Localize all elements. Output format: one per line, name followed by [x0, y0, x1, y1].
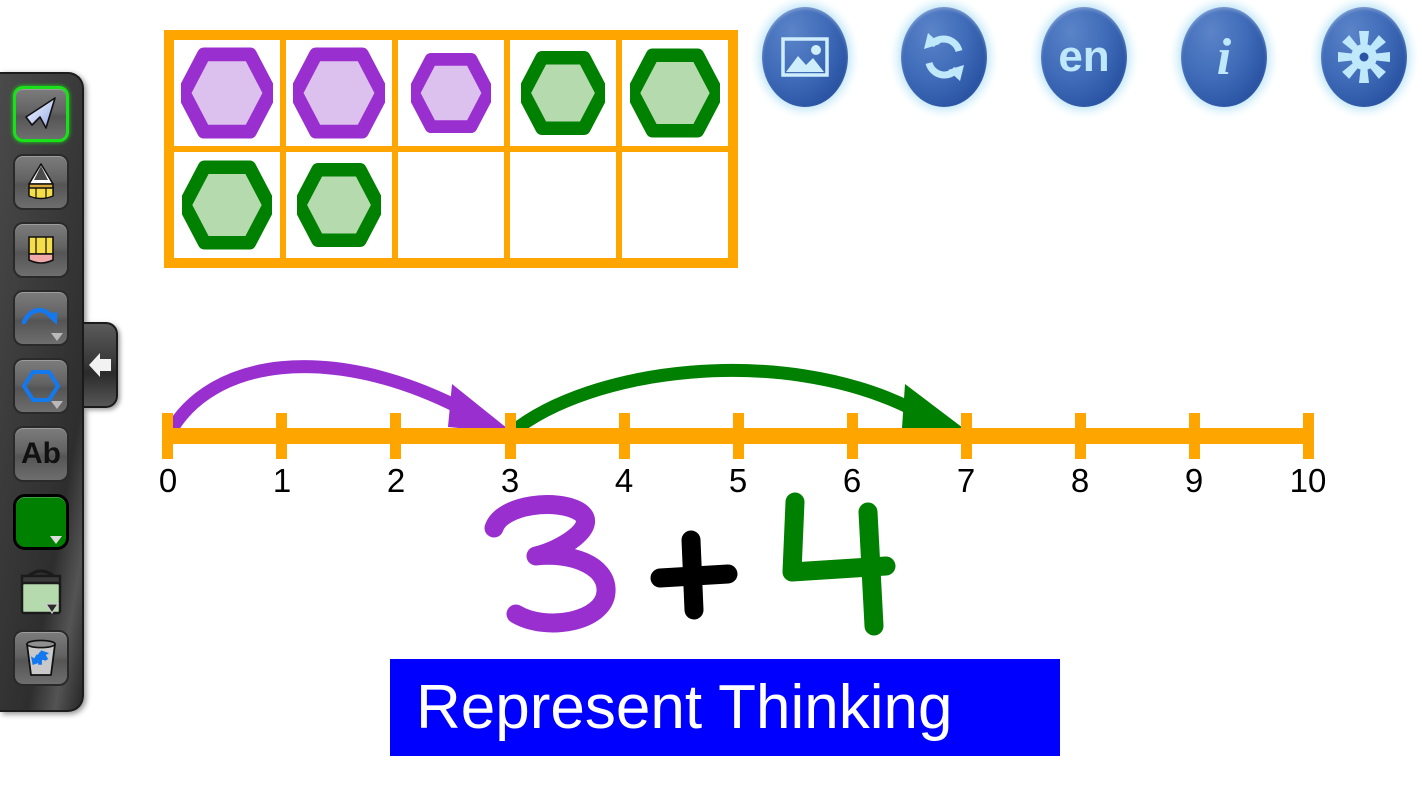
ten-frame-cell-empty[interactable] — [622, 152, 728, 258]
language-label: en — [1058, 32, 1109, 82]
refresh-icon — [918, 31, 970, 83]
hexagon-green-icon — [297, 163, 381, 247]
info-button[interactable]: i — [1181, 7, 1267, 107]
gallery-button[interactable] — [762, 7, 848, 107]
tool-fill-color[interactable] — [13, 562, 69, 618]
tool-select[interactable] — [13, 86, 69, 142]
tool-shape[interactable] — [13, 358, 69, 414]
app-canvas: en i — [0, 0, 1422, 800]
banner-label: Represent Thinking — [416, 677, 953, 739]
tick-label-9: 9 — [1185, 462, 1203, 500]
text-ab-icon: Ab — [21, 439, 61, 469]
tool-text[interactable]: Ab — [13, 426, 69, 482]
flower-gear-icon — [1336, 29, 1392, 85]
ten-frame[interactable] — [164, 30, 738, 268]
tool-eraser[interactable] — [13, 222, 69, 278]
hexagon-green-icon — [521, 51, 605, 135]
hexagon-green-icon — [182, 160, 272, 250]
hexagon-icon — [21, 368, 61, 404]
ten-frame-cell[interactable] — [510, 40, 616, 146]
tick-label-1: 1 — [273, 462, 291, 500]
paint-bucket-icon — [13, 562, 69, 618]
hexagon-purple-icon — [293, 47, 385, 139]
tool-jump-arrow[interactable] — [13, 290, 69, 346]
pencil-icon — [22, 162, 60, 202]
drawing-tools-toolbar: Ab — [0, 72, 84, 712]
tick-label-8: 8 — [1071, 462, 1089, 500]
picture-icon — [781, 37, 829, 77]
tool-trash[interactable] — [13, 630, 69, 686]
ten-frame-cell-empty[interactable] — [398, 152, 504, 258]
ten-frame-cell[interactable] — [286, 40, 392, 146]
toolbar-collapse-button[interactable] — [84, 322, 118, 408]
reset-button[interactable] — [901, 7, 987, 107]
language-button[interactable]: en — [1041, 7, 1127, 107]
hexagon-green-icon — [630, 48, 720, 138]
ten-frame-cell[interactable] — [174, 40, 280, 146]
ten-frame-cell-empty[interactable] — [510, 152, 616, 258]
arrow-left-icon — [87, 350, 113, 380]
tick-label-10: 10 — [1290, 462, 1327, 500]
ten-frame-cell[interactable] — [398, 40, 504, 146]
chevron-down-icon — [51, 333, 63, 341]
number-line-graphic — [0, 300, 1422, 500]
handwritten-3 — [494, 505, 606, 623]
chevron-down-icon — [50, 536, 62, 544]
jump-arc-purple — [169, 367, 513, 434]
status-banner: Represent Thinking — [390, 659, 1060, 756]
tool-pencil[interactable] — [13, 154, 69, 210]
settings-button[interactable] — [1321, 7, 1407, 107]
hexagon-purple-icon — [181, 47, 273, 139]
hexagon-purple-icon — [411, 53, 491, 133]
tick-label-2: 2 — [387, 462, 405, 500]
handwritten-4 — [792, 502, 886, 626]
equation-strokes — [450, 480, 990, 660]
recycle-bin-icon — [22, 638, 60, 678]
info-label: i — [1217, 28, 1231, 87]
tick-label-0: 0 — [159, 462, 177, 500]
number-line[interactable]: 0 1 2 3 4 5 6 7 8 9 10 — [0, 300, 1422, 500]
tool-stroke-color[interactable] — [13, 494, 69, 550]
handwritten-plus — [660, 540, 728, 610]
curved-arrow-icon — [21, 303, 61, 333]
ten-frame-cell[interactable] — [174, 152, 280, 258]
chevron-down-icon — [51, 401, 63, 409]
eraser-icon — [22, 231, 60, 269]
ten-frame-cell[interactable] — [622, 40, 728, 146]
cursor-arrow-icon — [22, 95, 60, 133]
ten-frame-cell[interactable] — [286, 152, 392, 258]
handwritten-equation[interactable] — [450, 480, 990, 660]
